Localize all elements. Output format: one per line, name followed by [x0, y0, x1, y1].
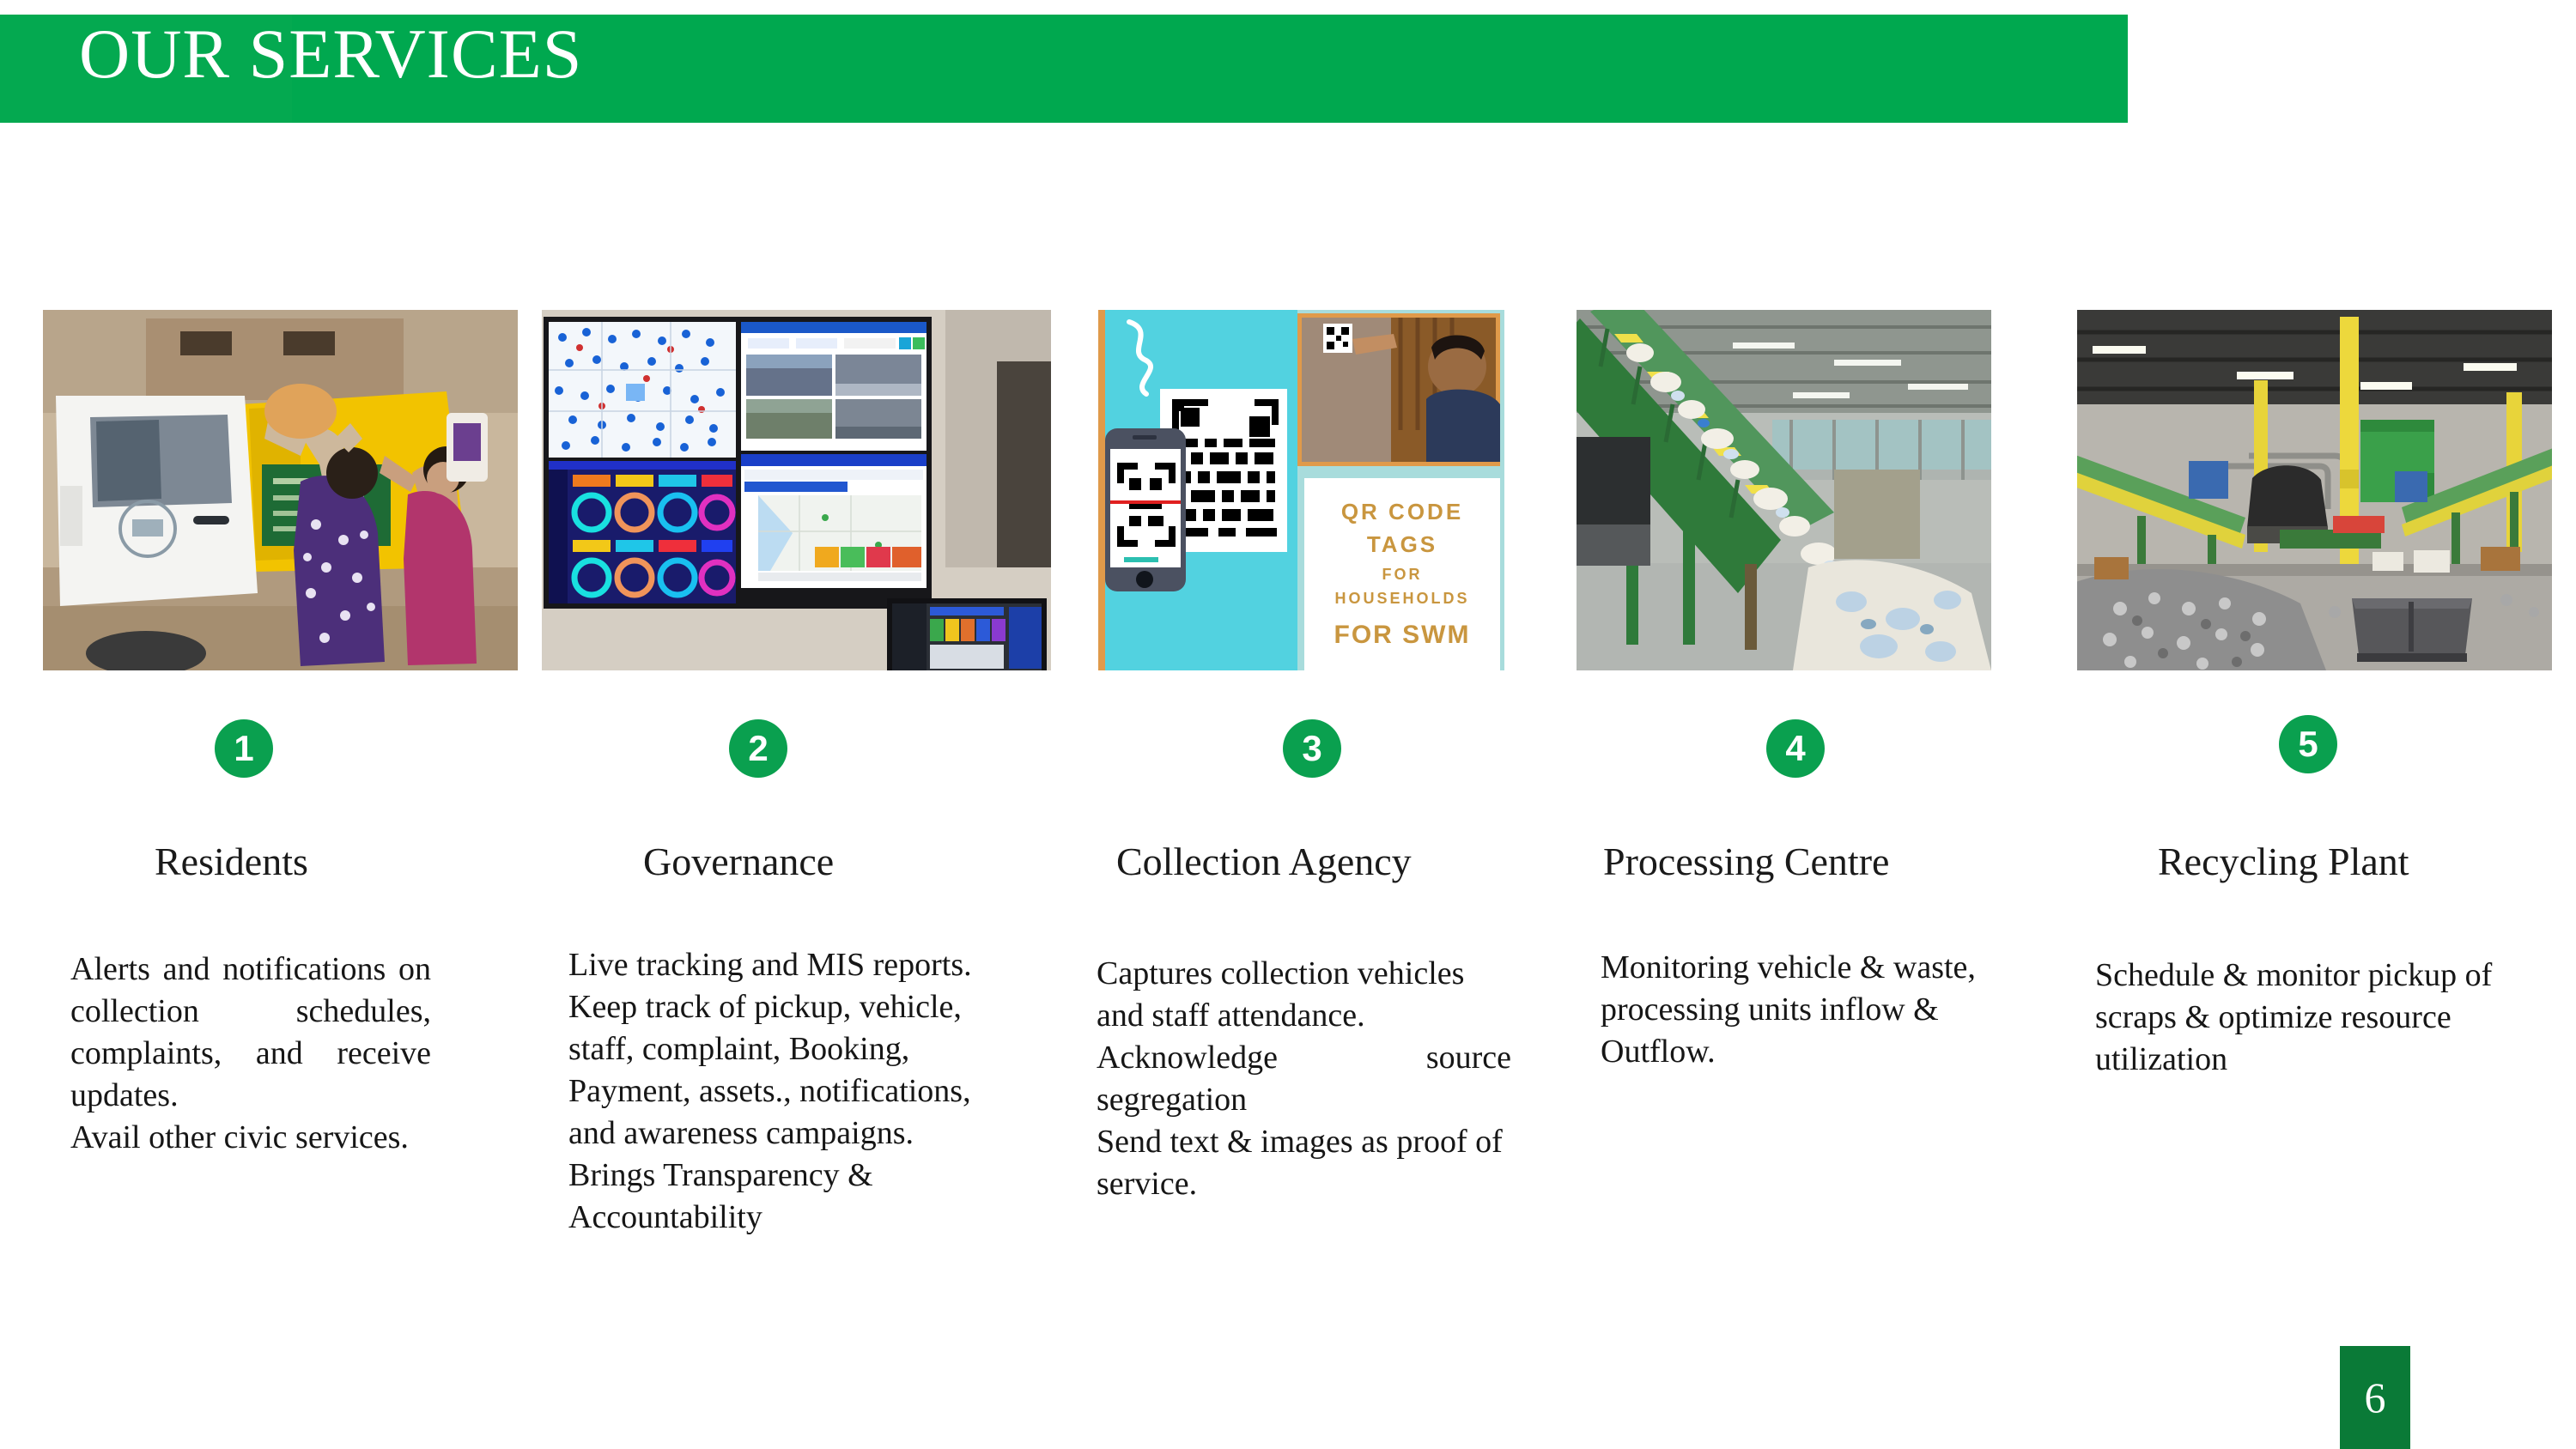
service-column-processing-centre: [1577, 310, 1991, 670]
service-title-collection-agency: Collection Agency: [1116, 838, 1412, 886]
service-column-residents: [43, 310, 518, 670]
service-column-collection-agency: QR CODE TAGS FOR HOUSEHOLDS FOR SWM: [1098, 310, 1504, 670]
service-title-governance: Governance: [643, 838, 834, 886]
body-line: Acknowledge source segregation: [1097, 1037, 1511, 1121]
service-title-processing-centre: Processing Centre: [1603, 838, 1889, 886]
svg-text:HOUSEHOLDS: HOUSEHOLDS: [1334, 590, 1469, 607]
svg-text:QR CODE: QR CODE: [1341, 499, 1463, 524]
svg-text:TAGS: TAGS: [1367, 531, 1437, 557]
page-number-badge: 6: [2340, 1346, 2410, 1449]
service-body-residents: Alerts and notifications on collection s…: [70, 949, 431, 1159]
body-line: Keep track of pickup, vehicle, staff, co…: [568, 986, 1006, 1155]
photo-qr-code-tags-poster: QR CODE TAGS FOR HOUSEHOLDS FOR SWM: [1098, 310, 1504, 670]
step-badge-2: 2: [729, 719, 787, 778]
photo-processing-conveyor: [1577, 310, 1991, 670]
service-body-governance: Live tracking and MIS reports. Keep trac…: [568, 944, 1006, 1239]
service-body-collection-agency: Captures collection vehicles and staff a…: [1097, 953, 1511, 1205]
svg-text:FOR SWM: FOR SWM: [1334, 621, 1471, 649]
step-badge-3: 3: [1283, 719, 1341, 778]
step-badge-5: 5: [2279, 715, 2337, 773]
body-line: Captures collection vehicles and staff a…: [1097, 953, 1511, 1037]
services-grid: QR CODE TAGS FOR HOUSEHOLDS FOR SWM: [0, 0, 2576, 1449]
body-line: Schedule & monitor pickup of scraps & op…: [2095, 955, 2524, 1081]
service-body-processing-centre: Monitoring vehicle & waste, processing u…: [1601, 947, 2004, 1073]
body-line: Send text & images as proof of service.: [1097, 1121, 1511, 1205]
photo-recycling-plant: [2077, 310, 2552, 670]
body-line: Brings Transparency & Accountability: [568, 1155, 1006, 1239]
step-badge-1: 1: [215, 719, 273, 778]
body-line: Alerts and notifications on collection s…: [70, 949, 431, 1117]
service-title-recycling-plant: Recycling Plant: [2158, 838, 2409, 886]
photo-collection-truck: [43, 310, 518, 670]
service-body-recycling-plant: Schedule & monitor pickup of scraps & op…: [2095, 955, 2524, 1081]
service-column-recycling-plant: [2077, 310, 2552, 670]
service-column-governance: [542, 310, 1051, 670]
service-title-residents: Residents: [155, 838, 308, 886]
body-line: Monitoring vehicle & waste, processing u…: [1601, 947, 2004, 1073]
photo-control-room-video-wall: [542, 310, 1051, 670]
step-badge-4: 4: [1766, 719, 1825, 778]
body-line: Avail other civic services.: [70, 1117, 431, 1159]
svg-text:FOR: FOR: [1382, 566, 1423, 583]
body-line: Live tracking and MIS reports.: [568, 944, 1006, 986]
